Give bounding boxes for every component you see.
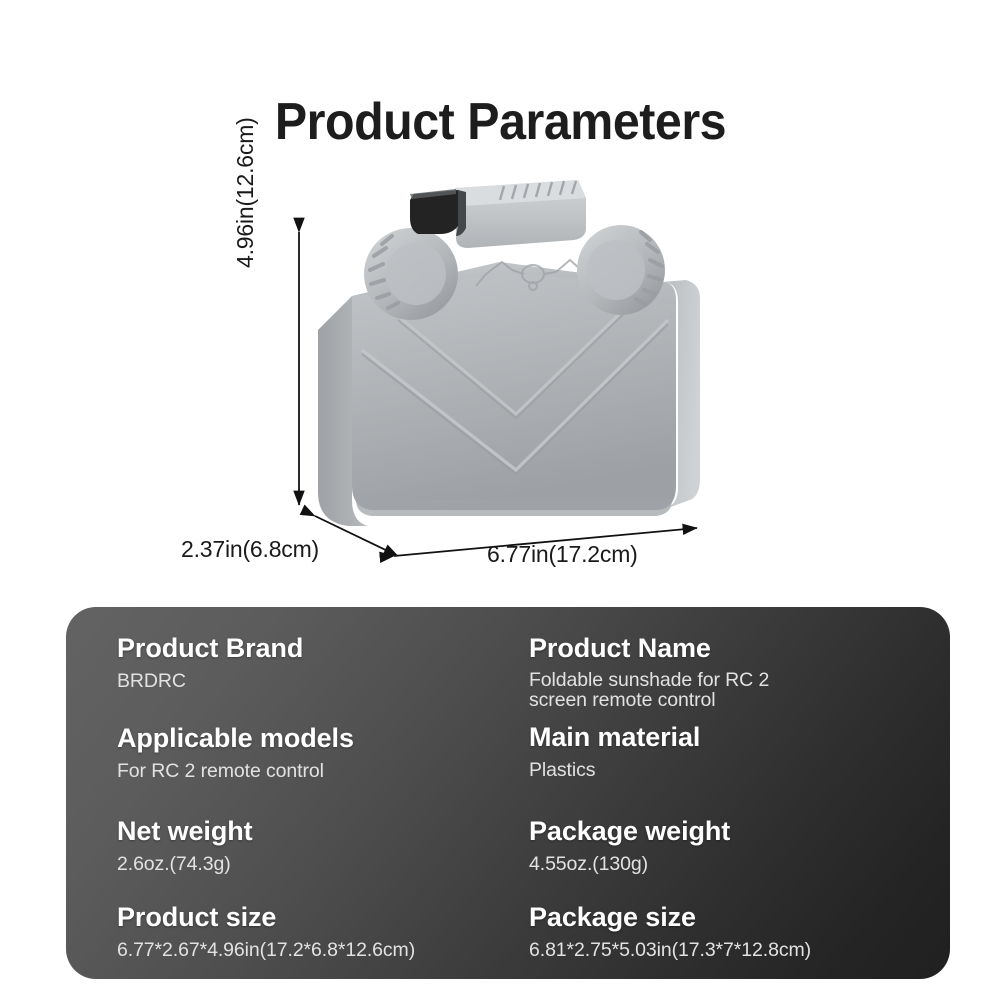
spec-value: Foldable sunshade for RC 2 screen remote… xyxy=(529,671,829,711)
spec-key: Product size xyxy=(117,904,521,931)
spec-value: For RC 2 remote control xyxy=(117,761,521,783)
product-parameters-page: Product Parameters xyxy=(0,0,1001,1001)
spec-key: Package size xyxy=(529,904,950,931)
spec-value: 4.55oz.(130g) xyxy=(529,854,950,876)
width-dimension-label: 6.77in(17.2cm) xyxy=(487,541,638,568)
height-dimension-label: 4.96in(12.6cm) xyxy=(232,117,259,268)
left-stick-knob xyxy=(364,228,458,320)
spec-row-net-weight: Net weight 2.6oz.(74.3g) xyxy=(66,818,521,876)
specification-panel: Product Brand BRDRC Applicable models Fo… xyxy=(66,607,950,979)
product-illustration xyxy=(0,170,1001,590)
spec-row-product-name: Product Name Foldable sunshade for RC 2 … xyxy=(521,635,950,711)
page-title: Product Parameters xyxy=(35,92,966,152)
spec-key: Applicable models xyxy=(117,725,521,752)
right-stick-knob xyxy=(577,225,665,315)
spec-row-product-size: Product size 6.77*2.67*4.96in(17.2*6.8*1… xyxy=(66,904,521,962)
spec-row-applicable-models: Applicable models For RC 2 remote contro… xyxy=(66,725,521,783)
spec-left-column: Product Brand BRDRC Applicable models Fo… xyxy=(66,623,521,979)
spec-row-package-size: Package size 6.81*2.75*5.03in(17.3*7*12.… xyxy=(521,904,950,962)
spec-row-package-weight: Package weight 4.55oz.(130g) xyxy=(521,818,950,876)
spec-value: Plastics xyxy=(529,760,950,782)
spec-value: 6.81*2.75*5.03in(17.3*7*12.8cm) xyxy=(529,940,950,962)
spec-key: Main material xyxy=(529,724,950,751)
spec-key: Product Brand xyxy=(117,635,521,662)
depth-dimension-label: 2.37in(6.8cm) xyxy=(181,536,319,563)
spec-value: BRDRC xyxy=(117,671,521,693)
spec-value: 6.77*2.67*4.96in(17.2*6.8*12.6cm) xyxy=(117,940,521,962)
spec-key: Package weight xyxy=(529,818,950,845)
spec-key: Product Name xyxy=(529,635,950,662)
spec-key: Net weight xyxy=(117,818,521,845)
spec-value: 2.6oz.(74.3g) xyxy=(117,854,521,876)
spec-right-column: Product Name Foldable sunshade for RC 2 … xyxy=(521,623,950,979)
spec-row-main-material: Main material Plastics xyxy=(521,724,950,782)
spec-row-product-brand: Product Brand BRDRC xyxy=(66,635,521,693)
